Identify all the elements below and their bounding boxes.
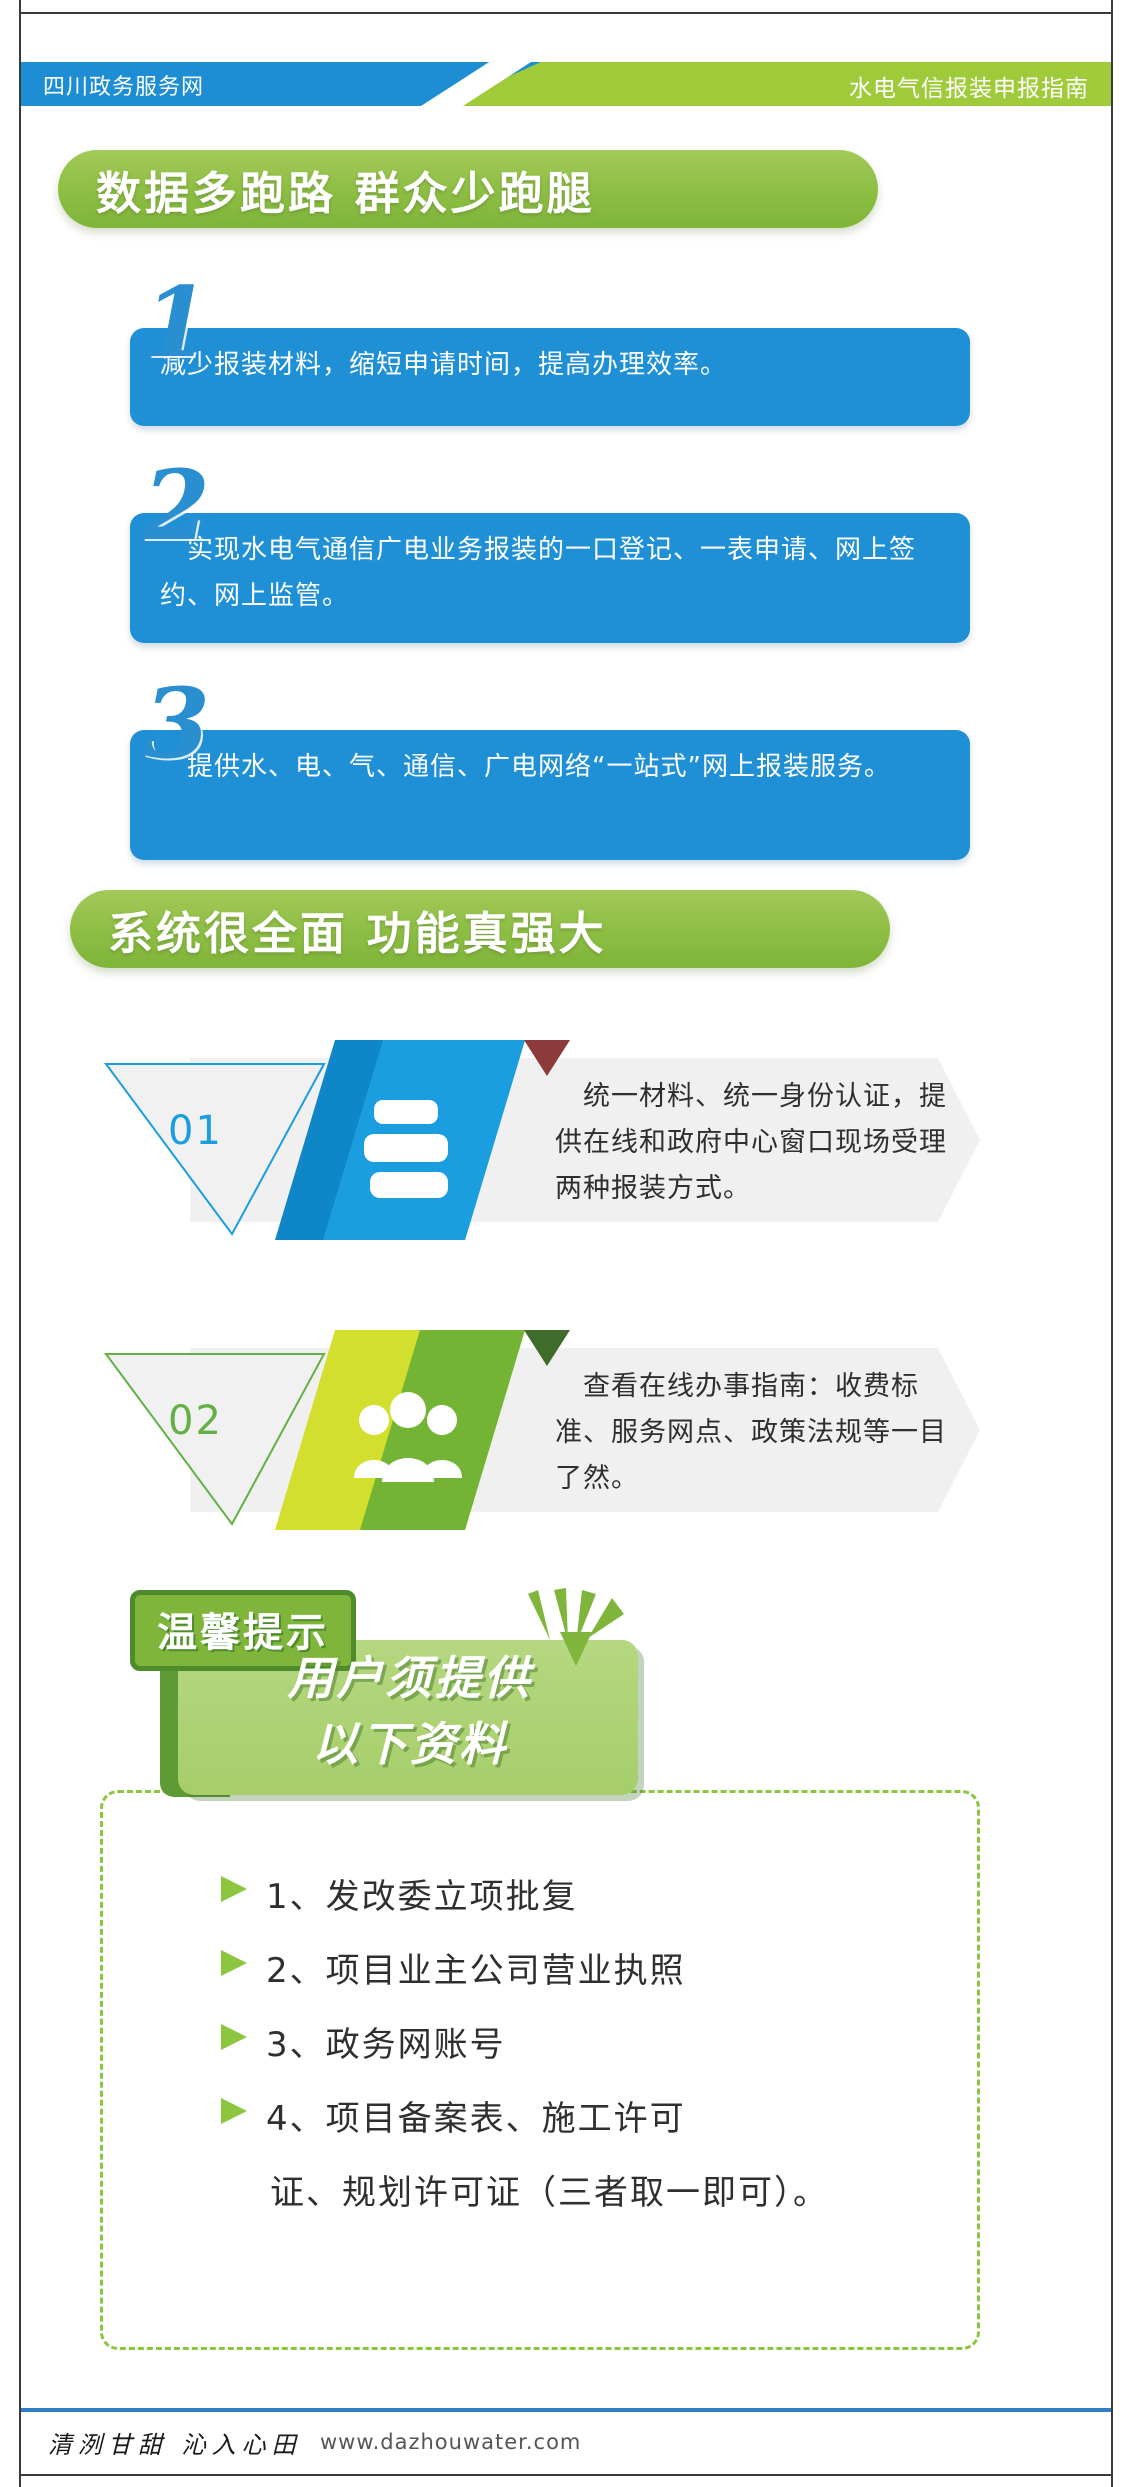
guide-title-label: 水电气信报装申报指南 (849, 69, 1089, 103)
benefit-text-1: 减少报装材料，缩短申请时间，提高办理效率。 (160, 342, 950, 388)
list-item: 3、政务网账号 (218, 2010, 938, 2080)
feature-card-02-corner-fold (524, 1330, 570, 1366)
feature-card-02-number: 02 (168, 1398, 223, 1444)
footer-website-url[interactable]: www.dazhouwater.com (320, 2430, 581, 2454)
feature-card-02-text: 查看在线办事指南：收费标准、服务网点、政策法规等一目了然。 (555, 1364, 955, 1502)
feature-card-01-corner-fold (524, 1040, 570, 1076)
triangle-bullet-icon (218, 2096, 248, 2130)
benefit-text-2: 实现水电气通信广电业务报装的一口登记、一表申请、网上签约、网上监管。 (160, 527, 950, 619)
footer-divider (21, 2408, 1111, 2412)
tip-heading-line-2: 以下资料 (190, 1711, 630, 1777)
tip-heading-line-1: 用户须提供 (190, 1645, 630, 1711)
benefit-text-3: 提供水、电、气、通信、广电网络“一站式”网上报装服务。 (160, 744, 950, 790)
requirement-text-3: 3、政务网账号 (266, 2010, 506, 2080)
tip-heading: 用户须提供 以下资料 (190, 1645, 630, 1777)
site-name-label: 四川政务服务网 (43, 69, 204, 101)
requirement-text-4: 4、项目备案表、施工许可 (266, 2084, 686, 2154)
triangle-bullet-icon (218, 1948, 248, 1982)
banner-system-text: 系统很全面 功能真强大 (108, 897, 607, 962)
benefit-number-3: 3 (143, 676, 210, 772)
requirements-list: 1、发改委立项批复 2、项目业主公司营业执照 3、政务网账号 4、项目备案表、施… (218, 1862, 938, 2228)
requirement-text-4-continued: 证、规划许可证（三者取一即可）。 (270, 2158, 938, 2228)
requirement-text-2: 2、项目业主公司营业执照 (266, 1936, 686, 2006)
list-item: 1、发改委立项批复 (218, 1862, 938, 1932)
benefit-number-1: 1 (143, 275, 210, 371)
poster-canvas: 四川政务服务网 水电气信报装申报指南 数据多跑路 群众少跑腿 减少报装材料，缩短… (0, 0, 1132, 2487)
feature-card-02: 02 查看在线办事指南：收费标准、服务网点、政策法规等一目了然。 (100, 1330, 980, 1530)
page-header: 四川政务服务网 水电气信报装申报指南 (21, 62, 1111, 106)
section-banner-system: 系统很全面 功能真强大 (70, 890, 890, 968)
requirement-text-1: 1、发改委立项批复 (266, 1862, 578, 1932)
benefit-number-2: 2 (143, 458, 210, 554)
section-banner-slogan: 数据多跑路 群众少跑腿 (58, 150, 878, 228)
list-item: 2、项目业主公司营业执照 (218, 1936, 938, 2006)
people-group-icon (352, 1392, 464, 1488)
triangle-bullet-icon (218, 2022, 248, 2056)
feature-card-01: 01 统一材料、统一身份认证，提供在线和政府中心窗口现场受理两种报装方式。 (100, 1040, 980, 1240)
frame-border-right (1111, 0, 1113, 2487)
triangle-bullet-icon (218, 1874, 248, 1908)
list-item: 4、项目备案表、施工许可 (218, 2084, 938, 2154)
frame-border-bottom (19, 2474, 1112, 2476)
benefit-box-1: 减少报装材料，缩短申请时间，提高办理效率。 (130, 328, 970, 426)
benefit-box-2: 实现水电气通信广电业务报装的一口登记、一表申请、网上签约、网上监管。 (130, 513, 970, 643)
stacked-bars-icon (352, 1098, 460, 1206)
footer-slogan: 清洌甘甜 沁入心田 (48, 2425, 302, 2460)
feature-card-01-text: 统一材料、统一身份认证，提供在线和政府中心窗口现场受理两种报装方式。 (555, 1074, 955, 1212)
frame-border-left (19, 0, 21, 2487)
banner-slogan-text: 数据多跑路 群众少跑腿 (96, 157, 595, 222)
benefit-box-3: 提供水、电、气、通信、广电网络“一站式”网上报装服务。 (130, 730, 970, 860)
feature-card-01-number: 01 (168, 1108, 223, 1154)
frame-border-top (19, 12, 1112, 14)
